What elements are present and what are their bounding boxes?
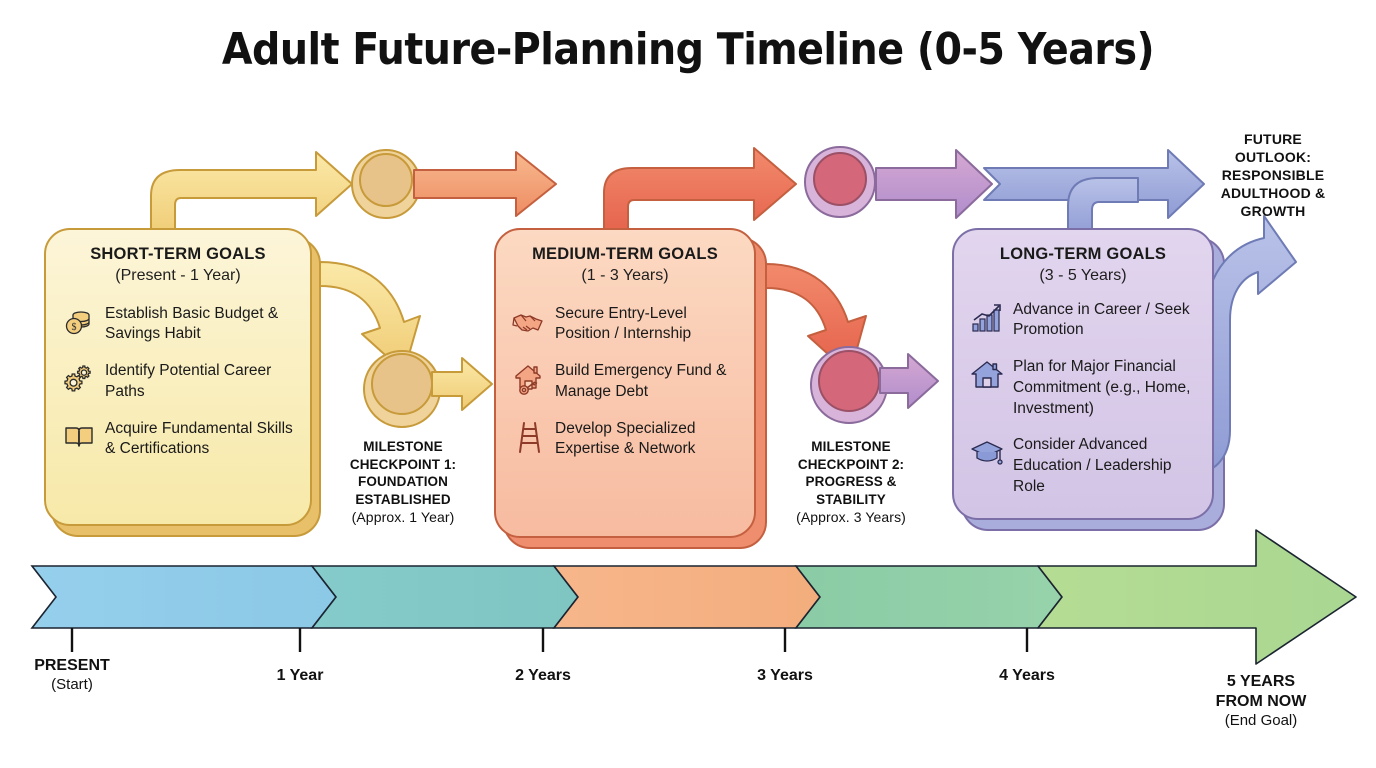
milestone-line-3: PROGRESS & [778,473,924,491]
handshake-icon [512,305,546,339]
outlook-line-1: FUTURE [1188,131,1358,149]
milestone-line-1: MILESTONE [330,438,476,456]
house-key-icon [512,362,546,396]
arrow-checkpoint2-to-long [876,150,992,218]
goal-text: Establish Basic Budget & Savings Habit [105,304,294,346]
coins-icon: $ [62,305,96,339]
tick-label-main: 3 Years [715,666,855,686]
card-subtitle: (1 - 3 Years) [512,266,738,286]
open-book-icon [62,420,96,454]
goal-item: $ Establish Basic Budget & Savings Habit [62,304,294,346]
goal-item: Plan for Major Financial Commitment (e.g… [970,357,1196,419]
goal-item: Advance in Career / Seek Promotion [970,300,1196,342]
milestone-approx: (Approx. 1 Year) [330,508,476,526]
card-title: SHORT-TERM GOALS [62,244,294,265]
goal-item: Build Emergency Fund & Manage Debt [512,361,738,403]
milestone-line-1: MILESTONE [778,438,924,456]
card-title: MEDIUM-TERM GOALS [512,244,738,265]
milestone-node-2 [811,347,938,423]
goal-item: Consider Advanced Education / Leadership… [970,435,1196,497]
milestone-line-2: CHECKPOINT 1: [330,456,476,474]
tick-label-3-years: 3 Years [715,666,855,686]
goal-item: Develop Specialized Expertise & Network [512,419,738,461]
goal-text: Identify Potential Career Paths [105,361,294,403]
goal-text: Build Emergency Fund & Manage Debt [555,361,738,403]
outlook-line-5: GROWTH [1188,203,1358,221]
card-short-term[interactable]: SHORT-TERM GOALS (Present - 1 Year) $ [44,228,312,526]
tick-label-2-years: 2 Years [473,666,613,686]
timeline-bar [32,530,1356,664]
arrow-checkpoint1-to-medium [414,152,556,216]
goal-list: $ Establish Basic Budget & Savings Habit [62,304,294,461]
outlook-line-3: RESPONSIBLE [1188,167,1358,185]
future-outlook-label: FUTURE OUTLOOK: RESPONSIBLE ADULTHOOD & … [1188,131,1358,221]
milestone-line-4: STABILITY [778,491,924,509]
milestone-label-1: MILESTONE CHECKPOINT 1: FOUNDATION ESTAB… [330,438,476,526]
arrow-short-to-checkpoint1 [151,152,352,240]
milestone-label-2: MILESTONE CHECKPOINT 2: PROGRESS & STABI… [778,438,924,526]
tick-label-main: 2 Years [473,666,613,686]
arrow-medium-to-checkpoint2 [604,148,796,240]
goal-text: Develop Specialized Expertise & Network [555,419,738,461]
infographic-canvas: Adult Future-Planning Timeline (0-5 Year… [0,0,1376,768]
milestone-node-1 [364,351,492,427]
milestone-top-marker-2 [805,147,875,217]
ladder-icon [512,420,546,454]
goal-item: Secure Entry-Level Position / Internship [512,304,738,346]
growth-chart-icon [970,301,1004,335]
goal-list: Secure Entry-Level Position / Internship [512,304,738,461]
end-line-2: FROM NOW [1171,692,1351,712]
tick-label-present: PRESENT (Start) [0,656,152,695]
tick-label-4-years: 4 Years [957,666,1097,686]
tick-label-1-year: 1 Year [230,666,370,686]
goal-text: Consider Advanced Education / Leadership… [1013,435,1196,497]
card-medium-term[interactable]: MEDIUM-TERM GOALS (1 - 3 Years) Secure E… [494,228,756,538]
tick-label-end-goal: 5 YEARS FROM NOW (End Goal) [1171,672,1351,731]
outlook-line-4: ADULTHOOD & [1188,185,1358,203]
goal-text: Plan for Major Financial Commitment (e.g… [1013,357,1196,419]
milestone-line-4: ESTABLISHED [330,491,476,509]
outlook-line-2: OUTLOOK: [1188,149,1358,167]
card-long-term[interactable]: LONG-TERM GOALS (3 - 5 Years) [952,228,1214,520]
svg-text:$: $ [72,322,77,333]
tick-label-main: 4 Years [957,666,1097,686]
goal-item: Identify Potential Career Paths [62,361,294,403]
end-line-1: 5 YEARS [1171,672,1351,692]
card-subtitle: (3 - 5 Years) [970,266,1196,286]
milestone-approx: (Approx. 3 Years) [778,508,924,526]
goal-item: Acquire Fundamental Skills & Certificati… [62,419,294,461]
gears-icon [62,362,96,396]
milestone-line-2: CHECKPOINT 2: [778,456,924,474]
end-line-sub: (End Goal) [1171,712,1351,731]
milestone-line-3: FOUNDATION [330,473,476,491]
card-subtitle: (Present - 1 Year) [62,266,294,286]
milestone-top-marker-1 [352,150,420,218]
tick-label-main: 1 Year [230,666,370,686]
tick-label-main: PRESENT [0,656,152,676]
goal-list: Advance in Career / Seek Promotion Plan … [970,300,1196,498]
tick-label-sub: (Start) [0,676,152,695]
graduation-cap-icon [970,436,1004,470]
house-icon [970,358,1004,392]
goal-text: Advance in Career / Seek Promotion [1013,300,1196,342]
timeline-ticks [72,628,1027,652]
goal-text: Secure Entry-Level Position / Internship [555,304,738,346]
card-title: LONG-TERM GOALS [970,244,1196,265]
goal-text: Acquire Fundamental Skills & Certificati… [105,419,294,461]
